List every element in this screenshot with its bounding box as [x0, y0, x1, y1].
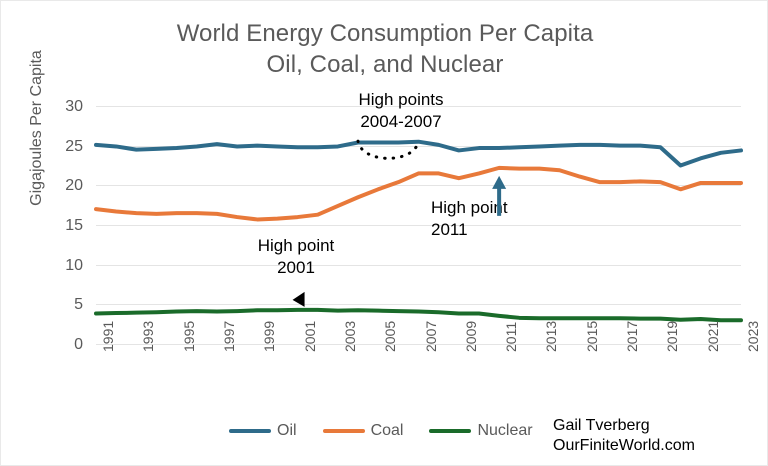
- annotation-high-point-2001: High point 2001: [206, 235, 386, 279]
- chart-page: World Energy Consumption Per Capita Oil,…: [0, 0, 768, 466]
- y-tick-25: 25: [43, 139, 83, 155]
- x-tick-2017: 2017: [625, 321, 639, 352]
- y-tick-20: 20: [43, 178, 83, 194]
- x-tick-2007: 2007: [424, 321, 438, 352]
- chart-title: World Energy Consumption Per Capita: [1, 19, 768, 50]
- x-tick-1991: 1991: [101, 321, 115, 352]
- x-tick-2003: 2003: [343, 321, 357, 352]
- series-line-coal: [96, 168, 741, 220]
- annotation-line-1: High point: [431, 197, 611, 219]
- y-tick-5: 5: [43, 297, 83, 313]
- annotation-line-2: 2001: [206, 257, 386, 279]
- x-tick-2019: 2019: [665, 321, 679, 352]
- annotation-line-1: High point: [206, 235, 386, 257]
- annotation-line-2: 2011: [431, 219, 611, 241]
- x-tick-2015: 2015: [585, 321, 599, 352]
- annotation-line-2: 2004-2007: [301, 111, 501, 133]
- series-line-oil: [96, 142, 741, 166]
- y-tick-15: 15: [43, 218, 83, 234]
- annotation-line-1: High points: [301, 89, 501, 111]
- credit-author: Gail Tverberg: [553, 416, 695, 436]
- credit-block: Gail Tverberg OurFiniteWorld.com: [553, 416, 695, 457]
- legend-label-oil: Oil: [277, 422, 297, 440]
- x-tick-2013: 2013: [544, 321, 558, 352]
- y-tick-0: 0: [43, 337, 83, 353]
- legend-item-nuclear[interactable]: Nuclear: [429, 422, 532, 440]
- annotation-high-point-2011: High point 2011: [431, 197, 611, 241]
- x-tick-2021: 2021: [706, 321, 720, 352]
- y-tick-30: 30: [43, 99, 83, 115]
- x-tick-1995: 1995: [182, 321, 196, 352]
- x-tick-2023: 2023: [746, 321, 760, 352]
- legend-swatch-oil: [229, 429, 271, 433]
- y-tick-10: 10: [43, 258, 83, 274]
- x-tick-1999: 1999: [262, 321, 276, 352]
- x-tick-1993: 1993: [141, 321, 155, 352]
- credit-site: OurFiniteWorld.com: [553, 436, 695, 456]
- x-tick-1997: 1997: [222, 321, 236, 352]
- series-line-nuclear: [96, 310, 741, 320]
- chart-subtitle: Oil, Coal, and Nuclear: [1, 50, 768, 81]
- series-lines: [96, 106, 741, 344]
- legend-label-nuclear: Nuclear: [477, 422, 532, 440]
- x-tick-2001: 2001: [303, 321, 317, 352]
- legend-item-oil[interactable]: Oil: [229, 422, 297, 440]
- legend-swatch-nuclear: [429, 429, 471, 433]
- legend-item-coal[interactable]: Coal: [323, 422, 404, 440]
- annotation-high-points-2004-2007: High points 2004-2007: [301, 89, 501, 133]
- legend-swatch-coal: [323, 429, 365, 433]
- x-tick-2011: 2011: [504, 322, 518, 352]
- legend-label-coal: Coal: [371, 422, 404, 440]
- x-tick-2005: 2005: [383, 321, 397, 352]
- chart-legend: OilCoalNuclear: [229, 422, 533, 440]
- plot-area: [96, 106, 741, 344]
- y-axis-title: Gigajoules Per Capita: [28, 8, 46, 248]
- chart-title-block: World Energy Consumption Per Capita Oil,…: [1, 19, 768, 80]
- x-tick-2009: 2009: [464, 321, 478, 352]
